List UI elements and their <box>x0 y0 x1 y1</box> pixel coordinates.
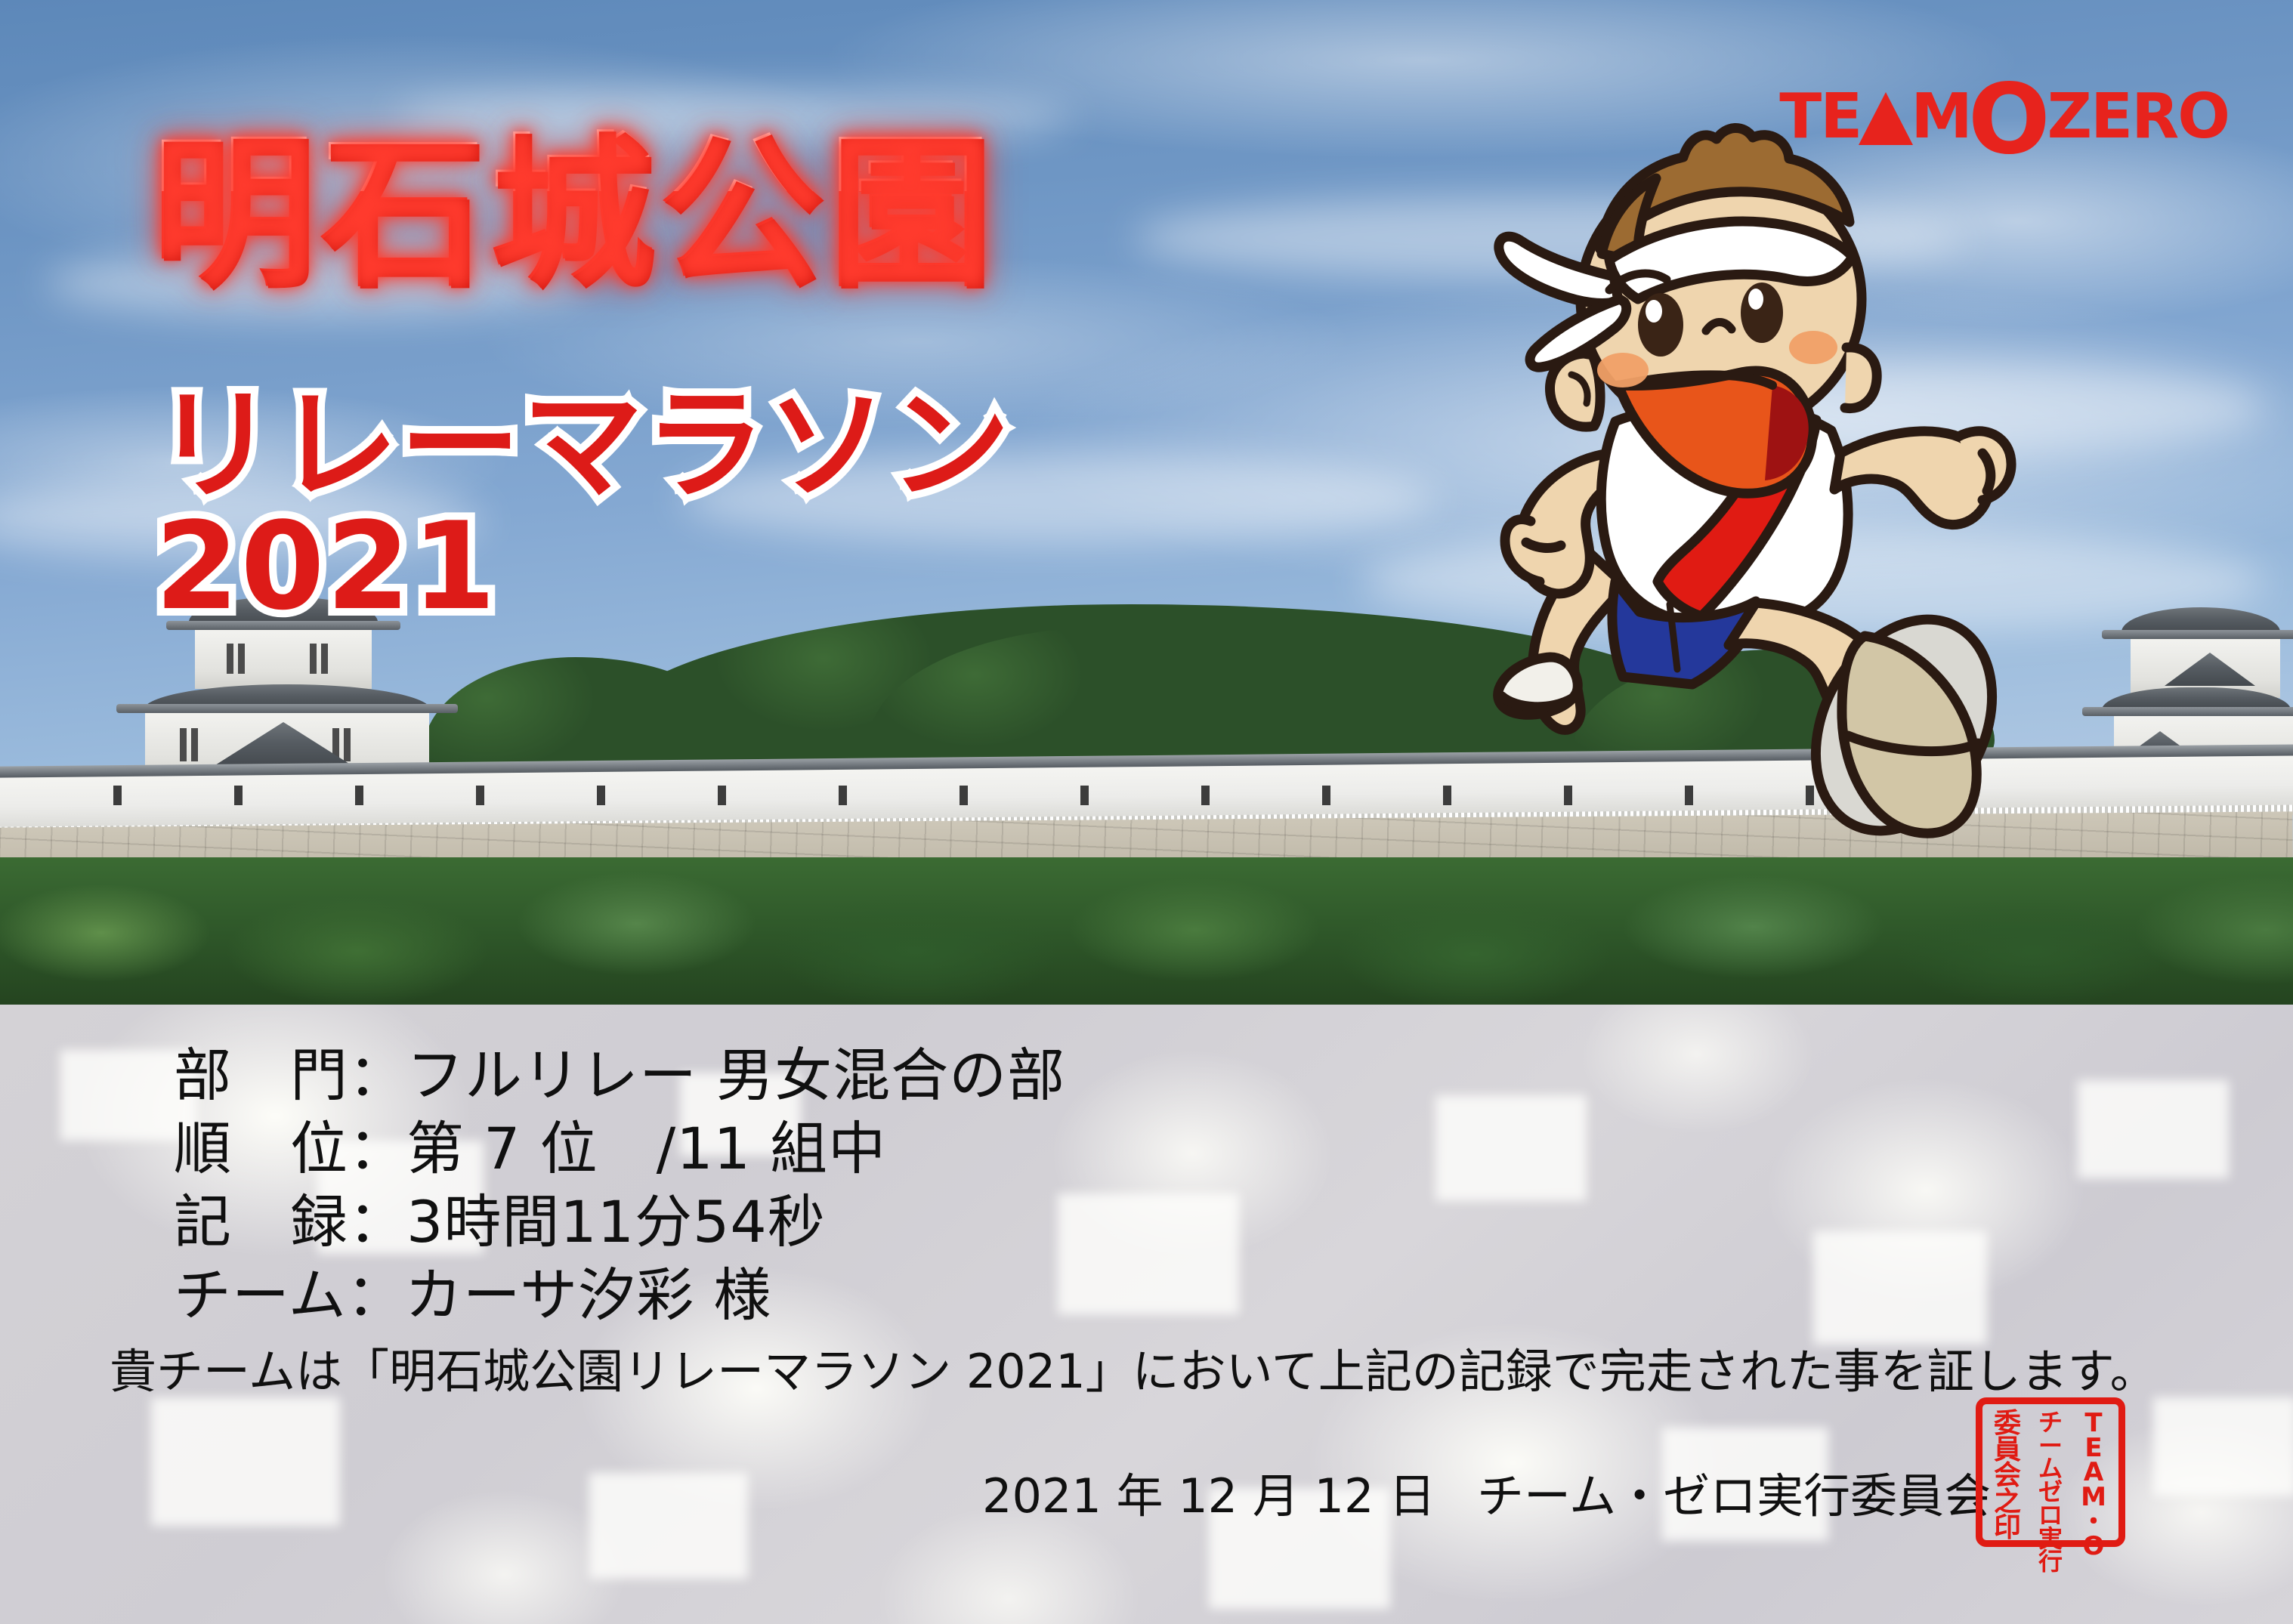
turret-eave <box>116 704 458 713</box>
detail-line-category: 部 門：フルリレー 男女混合の部 <box>174 1047 1065 1104</box>
texture-speck <box>2153 1397 2293 1496</box>
wall-loophole <box>355 786 363 805</box>
texture-speck <box>1435 1095 1587 1201</box>
turret-window <box>310 644 317 674</box>
page-title-text: 明石城公園 <box>151 119 997 310</box>
seal-column-roman: TEAM・O <box>2077 1411 2110 1533</box>
seal-glyph: M <box>2081 1485 2106 1510</box>
wall-loophole <box>1201 786 1210 805</box>
page-subtitle: リレーマラソン2021 <box>155 385 1284 627</box>
turret-eave <box>2082 707 2293 716</box>
texture-speck <box>589 1473 748 1579</box>
texture-speck <box>151 1397 340 1526</box>
seal-column-middle: チームゼロ実行 <box>2035 1411 2066 1533</box>
wall-loophole <box>476 786 484 805</box>
seal-glyph: T <box>2084 1411 2102 1436</box>
turret-window <box>321 644 328 674</box>
seal-glyph: 員 <box>1994 1437 2021 1464</box>
texture-speck <box>2078 1080 2229 1178</box>
turret-window <box>191 728 198 761</box>
turret-window <box>180 728 187 761</box>
wall-loophole <box>597 786 605 805</box>
issue-date: 2021 年 12 月 12 日 <box>982 1458 1435 1526</box>
certification-statement: 貴チームは「明石城公園リレーマラソン 2021」において上記の記録で完走された事… <box>110 1333 2157 1401</box>
detail-line-team: チーム：カーサ汐彩 様 <box>174 1267 771 1324</box>
issuer-name: チーム・ゼロ実行委員会 <box>1477 1458 1991 1526</box>
wall-loophole <box>1080 786 1089 805</box>
seal-glyph: 印 <box>1994 1515 2021 1542</box>
turret-eave <box>2102 630 2293 639</box>
photo-banner: 明石城公園 リレーマラソン2021 TE M O ZERO <box>0 0 2293 1005</box>
wall-loophole <box>234 786 243 805</box>
seal-glyph: 会 <box>1994 1463 2021 1490</box>
turret-window <box>344 728 351 761</box>
texture-speck <box>1058 1193 1239 1314</box>
texture-speck <box>1813 1231 1987 1345</box>
detail-line-record: 記 録：3時間11分54秒 <box>174 1193 826 1251</box>
wall-loophole <box>839 786 847 805</box>
detail-line-rank: 順 位：第 7 位 /11 組中 <box>174 1120 886 1178</box>
turret-window <box>238 644 245 674</box>
brand-word-zero: ZERO <box>2047 86 2229 148</box>
wall-loophole <box>960 786 968 805</box>
page-title: 明石城公園 <box>151 132 997 297</box>
certificate: 明石城公園 リレーマラソン2021 TE M O ZERO <box>0 0 2293 1624</box>
seal-glyph: 之 <box>1994 1490 2021 1516</box>
seal-glyph: O <box>2083 1534 2105 1559</box>
wall-loophole <box>1322 786 1330 805</box>
turret-window <box>227 644 233 674</box>
running-mascot-icon <box>1420 128 2040 884</box>
turret-wall <box>195 630 372 689</box>
wall-loophole <box>113 786 122 805</box>
seal-column-left: 委員会之印 <box>1991 1411 2024 1533</box>
official-seal: TEAM・O チームゼロ実行 委員会之印 <box>1976 1397 2125 1547</box>
seal-glyph: 行 <box>2038 1550 2063 1573</box>
seal-glyph: ロ <box>2038 1504 2063 1527</box>
wall-loophole <box>718 786 726 805</box>
seal-glyph: A <box>2084 1460 2103 1485</box>
seal-glyph: 委 <box>1994 1411 2021 1437</box>
